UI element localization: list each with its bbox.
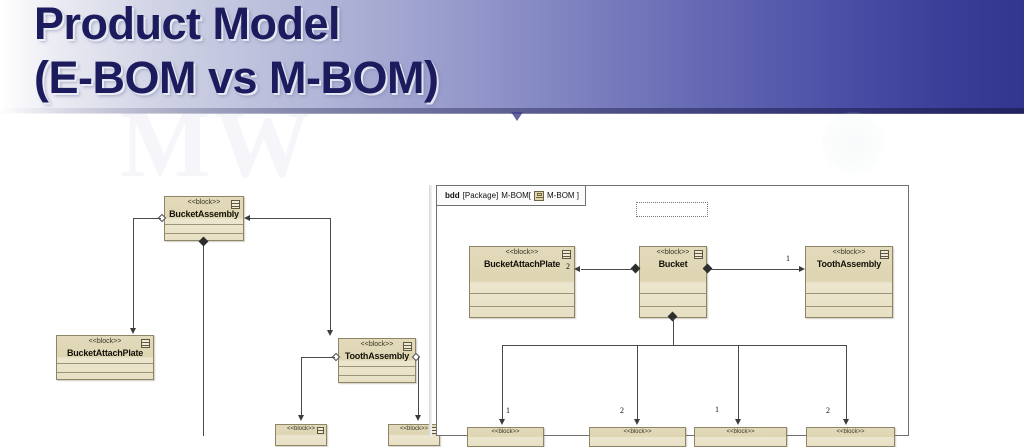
mbom-tooth-assembly-name: ToothAssembly [806,259,892,269]
slide-header-banner: Product Model (E-BOM vs M-BOM) [0,0,1024,113]
block-separator [165,233,243,234]
mbom-empty-dotted-placeholder[interactable] [636,202,708,217]
mbom-leaf-4-stereotype: <<block>> [807,429,894,435]
mbom-bucket-attach-plate-name: BucketAttachPlate [470,259,574,269]
block-compartment-icon [562,250,571,259]
mbom-connector-segment [846,345,847,421]
mbom-connector-segment [673,318,674,345]
mbom-connector-arrow [499,419,505,425]
ebom-block-bucket-attach-plate[interactable]: <<block>> BucketAttachPlate [56,335,154,380]
mbom-connector-arrow [574,266,580,272]
watermark-badge-icon [822,112,884,174]
block-compartment-icon [694,250,703,259]
ebom-connector-segment [203,246,204,436]
block-separator [640,293,706,294]
mbom-multiplicity-tooth-assembly: 1 [786,254,790,263]
mbom-block-leaf-3[interactable]: <<block>> [694,427,787,447]
block-separator [57,363,153,364]
block-separator [640,306,706,307]
mbom-multiplicity-leaf-2: 2 [620,406,624,415]
mbom-multiplicity-leaf-3: 1 [715,405,719,414]
block-compartment-icon [317,427,324,434]
block-separator [339,366,415,367]
mbom-connector-segment [711,269,800,270]
mbom-multiplicity-leaf-4: 2 [826,406,830,415]
ebom-block-bucket-assembly[interactable]: <<block>> BucketAssembly [164,196,244,241]
ebom-connector-segment [301,357,335,358]
block-separator [806,293,892,294]
mbom-frame-pkg: M-BOM ] [547,191,579,200]
page-title-line-2: (E-BOM vs M-BOM) [34,52,438,104]
mbom-multiplicity-bucket-attach-plate: 2 [566,262,570,271]
ebom-connector-segment [133,218,134,331]
block-compartment-icon [880,250,889,259]
ebom-connector-segment [301,357,302,417]
watermark-text: MW [120,108,315,194]
mbom-connector-segment [581,269,633,270]
mbom-block-leaf-2[interactable]: <<block>> [589,427,686,447]
mbom-multiplicity-leaf-1: 1 [506,406,510,415]
mbom-connector-segment [738,345,739,421]
ebom-block-tooth-assembly[interactable]: <<block>> ToothAssembly [338,338,416,383]
background-watermark: MW [120,108,900,194]
mbom-bucket-name: Bucket [640,259,706,269]
mbom-connector-arrow [634,419,640,425]
ebom-bucket-attach-plate-stereotype: <<block>> [57,338,153,345]
block-separator [165,224,243,225]
page-title-line-1: Product Model [34,0,340,50]
ebom-connector-arrow [415,415,421,421]
mbom-frame-label: bdd [Package] M-BOM[ M-BOM ] [437,186,586,206]
mbom-block-bucket[interactable]: <<block>> Bucket [639,246,707,318]
block-separator [339,375,415,376]
block-separator [806,306,892,307]
pane-divider [429,185,432,436]
block-compartment-icon [141,339,150,348]
ebom-connector-arrow [130,328,136,334]
block-separator [470,293,574,294]
mbom-block-tooth-assembly[interactable]: <<block>> ToothAssembly [805,246,893,318]
package-icon [534,191,544,201]
mbom-frame-name: M-BOM[ [501,191,531,200]
block-compartment-icon [403,342,412,351]
ebom-connector-segment [133,218,161,219]
ebom-block-leaf-left[interactable]: <<block>> [275,424,327,446]
ebom-block-leaf-right[interactable]: <<block>> [388,424,440,446]
watermark-caret-icon [511,112,523,121]
ebom-tooth-assembly-name: ToothAssembly [339,351,415,361]
mbom-connector-arrow [843,419,849,425]
mbom-connector-arrow [735,419,741,425]
mbom-tree-bus [502,345,846,346]
ebom-connector-segment [330,218,331,333]
ebom-connector-segment [418,357,419,417]
mbom-leaf-1-stereotype: <<block>> [468,429,543,435]
block-separator [57,372,153,373]
mbom-frame-kind: [Package] [463,191,499,200]
mbom-block-bucket-attach-plate[interactable]: <<block>> BucketAttachPlate [469,246,575,318]
mbom-frame-keyword: bdd [445,191,460,200]
mbom-block-leaf-1[interactable]: <<block>> [467,427,544,447]
ebom-connector-segment [250,218,330,219]
block-separator [470,306,574,307]
mbom-leaf-3-stereotype: <<block>> [695,429,786,435]
mbom-block-leaf-4[interactable]: <<block>> [806,427,895,447]
mbom-bucket-attach-plate-stereotype: <<block>> [470,249,574,256]
block-compartment-icon [231,200,240,209]
mbom-connector-segment [637,345,638,421]
ebom-bucket-assembly-name: BucketAssembly [165,209,243,219]
ebom-bucket-attach-plate-name: BucketAttachPlate [57,348,153,358]
mbom-connector-segment [502,345,503,421]
mbom-leaf-2-stereotype: <<block>> [590,429,685,435]
ebom-connector-arrow [327,330,333,336]
ebom-connector-arrow [298,415,304,421]
mbom-connector-arrow [799,266,805,272]
